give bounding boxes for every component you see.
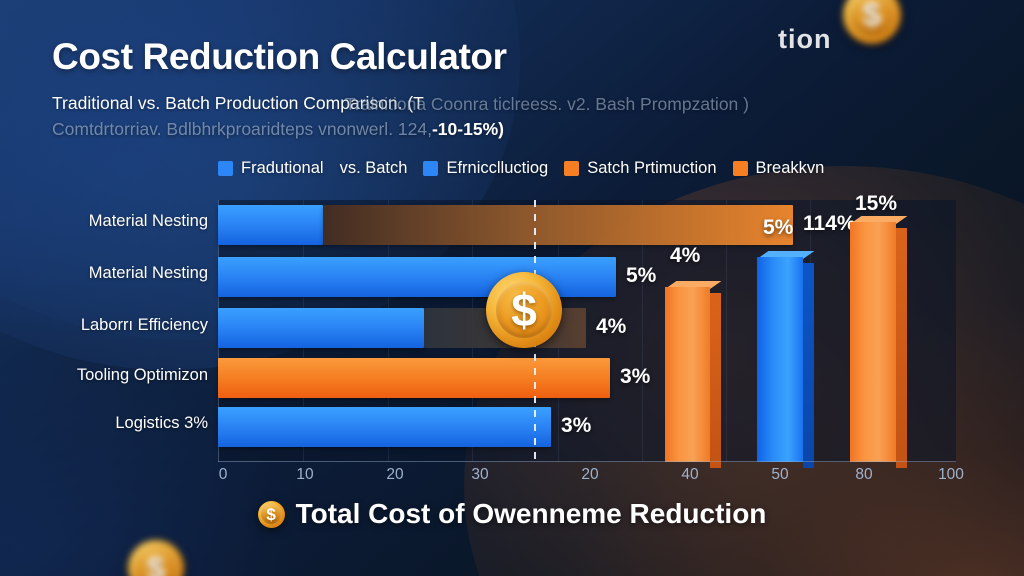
bar-segment-orange xyxy=(218,358,610,398)
bar-segment-orange xyxy=(323,205,793,245)
bar-value-label: 3% xyxy=(620,365,650,389)
chart-legend: Fradutional vs. Batch Efrnicclluctiog Sa… xyxy=(218,159,824,178)
y-axis-label-3: Tooling Optimizon xyxy=(40,366,208,385)
column-value-label-1: 5% xyxy=(763,216,793,240)
dollar-sign-icon: $ xyxy=(511,287,537,333)
x-tick-1: 10 xyxy=(296,466,313,484)
dollar-sign-icon: $ xyxy=(266,506,275,523)
legend-swatch-icon xyxy=(218,161,233,176)
legend-label: Breakkvn xyxy=(756,159,825,178)
x-axis-title-artifact: tion xyxy=(778,24,831,55)
legend-label: Fradutional xyxy=(241,159,324,178)
bar-value-label: 4% xyxy=(596,315,626,339)
legend-item-3[interactable]: Satch Prtimuction xyxy=(564,159,716,178)
column-front-face xyxy=(757,257,803,462)
x-tick-8: 100 xyxy=(938,466,964,484)
y-axis-label-0: Material Nesting xyxy=(40,212,208,231)
subtitle-second-text: Comtdrtorriav. Bdlbhrkproaridteps vnonwe… xyxy=(52,119,432,139)
bar-segment-blue xyxy=(218,205,323,245)
dollar-sign-icon: $ xyxy=(147,552,165,576)
bar-value-label: 114% xyxy=(803,212,856,236)
bar-row-1[interactable]: 5% xyxy=(218,257,956,297)
center-coin-icon: $ xyxy=(486,272,562,348)
slide-canvas: Cost Reduction Calculator Traditional vs… xyxy=(0,0,1024,576)
x-tick-0: 0 xyxy=(219,466,228,484)
dollar-sign-icon: $ xyxy=(863,0,882,32)
x-axis-title-text: Total Cost of Owenneme Reduction xyxy=(296,498,767,530)
legend-swatch-icon xyxy=(733,161,748,176)
subtitle-group: Traditional vs. Batch Production Compari… xyxy=(52,93,992,147)
column-front-face xyxy=(850,222,896,462)
bottom-left-coin-icon: $ xyxy=(128,540,184,576)
subtitle-ghost: Tralnitiona Coonra ticlreess. v2. Bash P… xyxy=(345,94,749,115)
bar-row-0[interactable]: 114% xyxy=(218,205,956,245)
legend-item-2[interactable]: Efrnicclluctiog xyxy=(423,159,548,178)
legend-swatch-icon xyxy=(423,161,438,176)
bar-value-label: 5% xyxy=(626,264,656,288)
column-value-label-0: 4% xyxy=(670,244,700,268)
x-tick-4: 20 xyxy=(581,466,598,484)
x-tick-7: 80 xyxy=(855,466,872,484)
x-tick-6: 50 xyxy=(771,466,788,484)
legend-label: Satch Prtimuction xyxy=(587,159,716,178)
x-axis-title: $ Total Cost of Owenneme Reduction xyxy=(0,498,1024,530)
legend-swatch-icon xyxy=(564,161,579,176)
coin-icon: $ xyxy=(258,501,285,528)
page-title: Cost Reduction Calculator xyxy=(52,38,992,77)
y-axis-label-4: Logistics 3% xyxy=(40,414,208,433)
legend-label: Efrnicclluctiog xyxy=(446,159,548,178)
column-value-label-2: 15% xyxy=(855,192,897,216)
bar-segment-blue xyxy=(218,407,551,447)
legend-item-0[interactable]: Fradutional xyxy=(218,159,324,178)
y-axis-label-2: Laborrı Efficiency xyxy=(40,316,208,335)
column-side-face xyxy=(803,263,814,468)
bar-value-label: 3% xyxy=(561,414,591,438)
legend-label: vs. Batch xyxy=(340,159,408,178)
x-tick-2: 20 xyxy=(386,466,403,484)
y-axis-label-1: Material Nesting xyxy=(40,264,208,283)
column-bar-2[interactable] xyxy=(850,222,896,462)
coin-inner: $ xyxy=(496,282,552,338)
x-axis-line xyxy=(218,461,956,462)
column-side-face xyxy=(710,293,721,468)
bar-row-3[interactable]: 3% xyxy=(218,358,956,398)
y-axis-labels: Material Nesting Material Nesting Laborr… xyxy=(40,200,208,462)
bar-row-2[interactable]: 4% xyxy=(218,308,956,348)
bar-segment-blue xyxy=(218,308,424,348)
column-side-face xyxy=(896,228,907,468)
subtitle-range-emphasis: -10-15%) xyxy=(432,119,504,139)
x-tick-3: 30 xyxy=(471,466,488,484)
x-tick-5: 40 xyxy=(681,466,698,484)
legend-item-4[interactable]: Breakkvn xyxy=(733,159,825,178)
chart-plot-area: 114% 5% 4% 3% 3% 4% xyxy=(218,200,956,462)
coin-inner: $ xyxy=(261,504,281,524)
subtitle-second-line: Comtdrtorriav. Bdlbhrkproaridteps vnonwe… xyxy=(52,119,504,140)
column-front-face xyxy=(665,287,710,462)
x-axis-ticks: 0 10 20 30 20 40 50 80 100 xyxy=(218,466,956,492)
bar-row-4[interactable]: 3% xyxy=(218,407,956,447)
column-bar-0[interactable] xyxy=(665,287,710,462)
legend-item-1[interactable]: vs. Batch xyxy=(340,159,408,178)
column-bar-1[interactable] xyxy=(757,257,803,462)
header: Cost Reduction Calculator Traditional vs… xyxy=(52,38,992,147)
